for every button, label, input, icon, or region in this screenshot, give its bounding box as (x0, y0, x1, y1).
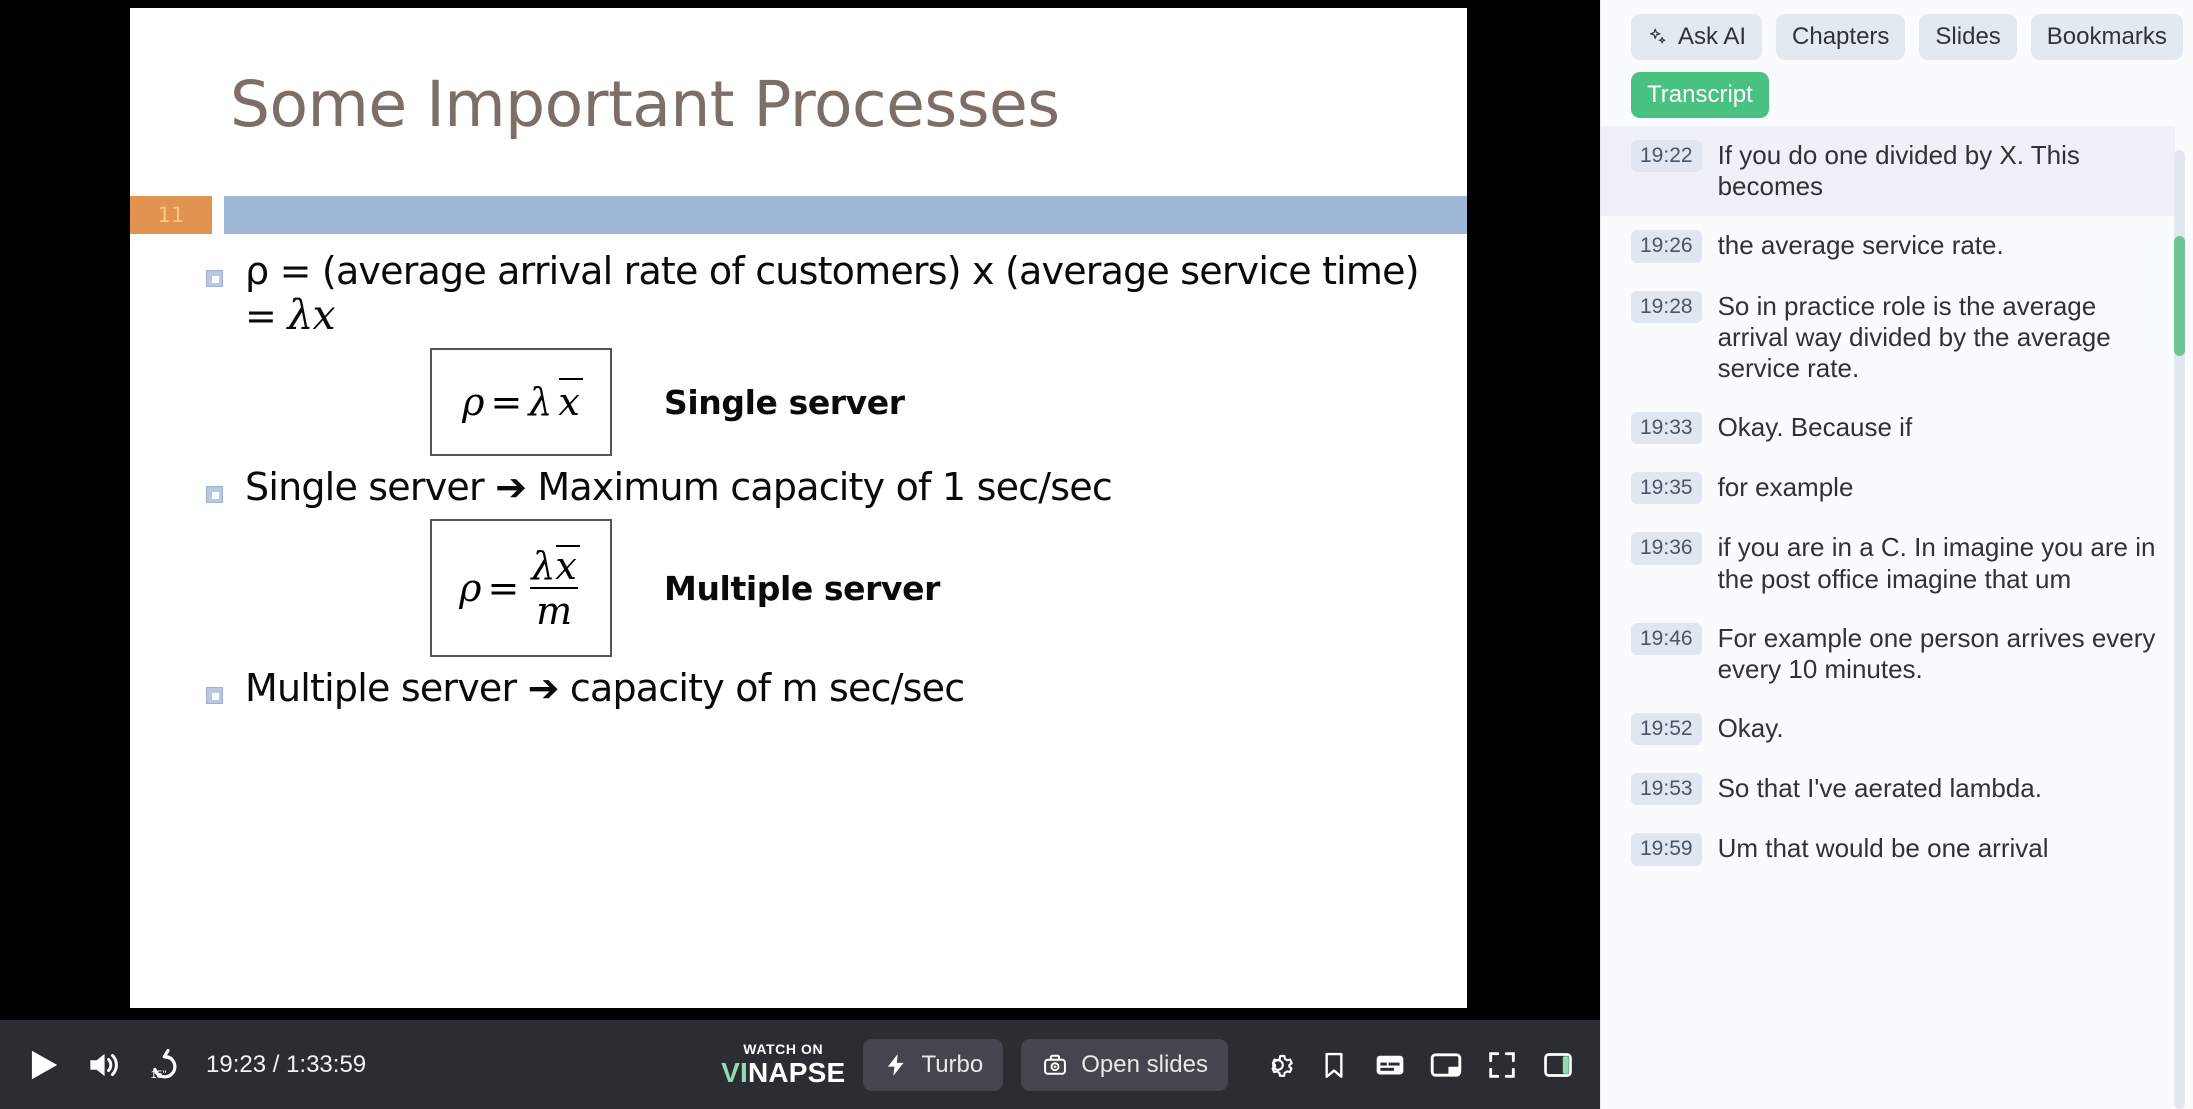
sparkle-icon (1647, 26, 1669, 48)
transcript-text: the average service rate. (1718, 230, 2004, 261)
projector-icon (1041, 1051, 1069, 1079)
turbo-button[interactable]: Turbo (863, 1039, 1003, 1091)
fullscreen-icon (1485, 1048, 1519, 1082)
transcript-scrollbar-thumb[interactable] (2174, 236, 2185, 356)
bullet-item-1: ρ = (average arrival rate of customers) … (206, 250, 1456, 338)
time-display: 19:23 / 1:33:59 (206, 1051, 366, 1079)
rewind-15-button[interactable]: 15" (144, 1045, 184, 1085)
formula-multiple-expression: ρ= λx m (459, 547, 583, 630)
transcript-panel: Ask AI Chapters Slides Bookmarks Transcr… (1600, 0, 2193, 1109)
player-control-bar: 15" 19:23 / 1:33:59 WATCH ON VINAPSE Tur… (0, 1020, 1600, 1109)
transcript-timestamp[interactable]: 19:22 (1631, 140, 1702, 172)
turbo-label: Turbo (921, 1051, 983, 1079)
transcript-row[interactable]: 19:35 for example (1601, 458, 2175, 518)
transcript-text: So that I've aerated lambda. (1718, 773, 2042, 804)
transcript-text: Okay. Because if (1718, 412, 1913, 443)
transcript-timestamp[interactable]: 19:36 (1631, 532, 1702, 564)
picture-in-picture-icon (1428, 1047, 1464, 1083)
transcript-list[interactable]: 19:22 If you do one divided by X. This b… (1601, 126, 2193, 1109)
transcript-text: If you do one divided by X. This becomes (1718, 140, 2159, 202)
tab-ask-ai-label: Ask AI (1678, 23, 1746, 51)
video-stage[interactable]: Some Important Processes 11 ρ = (average… (0, 0, 1600, 1020)
vinapse-brand: WATCH ON VINAPSE (721, 1042, 845, 1087)
lightning-bolt-icon (883, 1052, 909, 1078)
brand-name: VINAPSE (721, 1059, 845, 1087)
brand-name-accent: VI (721, 1057, 748, 1088)
formula-row-multiple: ρ= λx m Multiple server (430, 519, 1456, 657)
slide-number-text: 11 (158, 205, 185, 226)
panel-tab-bar: Ask AI Chapters Slides Bookmarks Transcr… (1601, 0, 2193, 126)
transcript-timestamp[interactable]: 19:52 (1631, 713, 1702, 745)
tab-slides-label: Slides (1935, 23, 2000, 51)
transcript-row[interactable]: 19:22 If you do one divided by X. This b… (1601, 126, 2175, 216)
transcript-scrollbar-track[interactable] (2174, 150, 2185, 1109)
transcript-timestamp[interactable]: 19:33 (1631, 412, 1702, 444)
transcript-row[interactable]: 19:46 For example one person arrives eve… (1601, 609, 2175, 699)
slide-title: Some Important Processes (230, 68, 1060, 141)
presentation-slide: Some Important Processes 11 ρ = (average… (130, 8, 1467, 1008)
transcript-row[interactable]: 19:26 the average service rate. (1601, 216, 2175, 276)
transcript-timestamp[interactable]: 19:28 (1631, 291, 1702, 323)
rewind-15-icon: 15" (144, 1045, 184, 1085)
open-slides-label: Open slides (1081, 1051, 1208, 1079)
transcript-timestamp[interactable]: 19:35 (1631, 472, 1702, 504)
bullet-square-icon (206, 270, 223, 287)
gear-icon (1261, 1048, 1295, 1082)
bullet-text-2: Single server ➔ Maximum capacity of 1 se… (245, 466, 1112, 509)
transcript-timestamp[interactable]: 19:46 (1631, 623, 1702, 655)
transcript-row[interactable]: 19:52 Okay. (1601, 699, 2175, 759)
transcript-timestamp[interactable]: 19:26 (1631, 230, 1702, 262)
video-player-column: Some Important Processes 11 ρ = (average… (0, 0, 1600, 1109)
fullscreen-button[interactable] (1474, 1037, 1530, 1093)
svg-text:15": 15" (151, 1068, 167, 1080)
formula-single-expression: ρ=λx (462, 380, 580, 424)
tab-chapters-label: Chapters (1792, 23, 1889, 51)
bullet-item-2: Single server ➔ Maximum capacity of 1 se… (206, 466, 1456, 509)
bullet-square-icon (206, 687, 223, 704)
transcript-text: Um that would be one arrival (1718, 833, 2049, 864)
transcript-timestamp[interactable]: 19:53 (1631, 773, 1702, 805)
toggle-sidebar-button[interactable] (1530, 1037, 1586, 1093)
slide-header-bar (224, 196, 1467, 234)
transcript-row[interactable]: 19:36 if you are in a C. In imagine you … (1601, 518, 2175, 608)
captions-icon (1373, 1048, 1407, 1082)
bullet-item-3: Multiple server ➔ capacity of m sec/sec (206, 667, 1456, 710)
slide-bullet-list: ρ = (average arrival rate of customers) … (206, 250, 1456, 716)
bullet-text-3: Multiple server ➔ capacity of m sec/sec (245, 667, 964, 710)
play-icon (24, 1046, 62, 1084)
transcript-row[interactable]: 19:28 So in practice role is the average… (1601, 277, 2175, 399)
bullet-text-1: ρ = (average arrival rate of customers) … (245, 250, 1456, 338)
transcript-text: For example one person arrives every eve… (1718, 623, 2159, 685)
tab-ask-ai[interactable]: Ask AI (1631, 14, 1762, 60)
volume-button[interactable] (84, 1046, 122, 1084)
settings-button[interactable] (1250, 1037, 1306, 1093)
transcript-row[interactable]: 19:53 So that I've aerated lambda. (1601, 759, 2175, 819)
formula-box-multiple-server: ρ= λx m (430, 519, 612, 657)
bookmark-button[interactable] (1306, 1037, 1362, 1093)
volume-icon (84, 1046, 122, 1084)
tab-chapters[interactable]: Chapters (1776, 14, 1905, 60)
formula-row-single: ρ=λx Single server (430, 348, 1456, 456)
formula-label-multiple: Multiple server (664, 569, 940, 608)
bullet-square-icon (206, 486, 223, 503)
transcript-text: if you are in a C. In imagine you are in… (1718, 532, 2159, 594)
transcript-text: Okay. (1718, 713, 1784, 744)
slide-number-badge: 11 (130, 196, 212, 234)
sidebar-toggle-icon (1541, 1048, 1575, 1082)
transcript-row[interactable]: 19:33 Okay. Because if (1601, 398, 2175, 458)
bookmark-icon (1318, 1049, 1350, 1081)
captions-button[interactable] (1362, 1037, 1418, 1093)
tab-slides[interactable]: Slides (1919, 14, 2016, 60)
picture-in-picture-button[interactable] (1418, 1037, 1474, 1093)
transcript-timestamp[interactable]: 19:59 (1631, 833, 1702, 865)
open-slides-button[interactable]: Open slides (1021, 1039, 1228, 1091)
tab-bookmarks[interactable]: Bookmarks (2031, 14, 2183, 60)
transcript-text: So in practice role is the average arriv… (1718, 291, 2159, 385)
video-lecture-app: Some Important Processes 11 ρ = (average… (0, 0, 2193, 1109)
bullet-1-math: λx (287, 291, 335, 339)
play-button[interactable] (24, 1046, 62, 1084)
tab-transcript[interactable]: Transcript (1631, 72, 1769, 118)
brand-name-rest: NAPSE (748, 1057, 845, 1088)
formula-box-single-server: ρ=λx (430, 348, 612, 456)
formula-label-single: Single server (664, 383, 905, 422)
tab-bookmarks-label: Bookmarks (2047, 23, 2167, 51)
brand-watch-on: WATCH ON (743, 1042, 823, 1056)
transcript-text: for example (1718, 472, 1854, 503)
transcript-row[interactable]: 19:59 Um that would be one arrival (1601, 819, 2175, 879)
tab-transcript-label: Transcript (1647, 81, 1753, 109)
